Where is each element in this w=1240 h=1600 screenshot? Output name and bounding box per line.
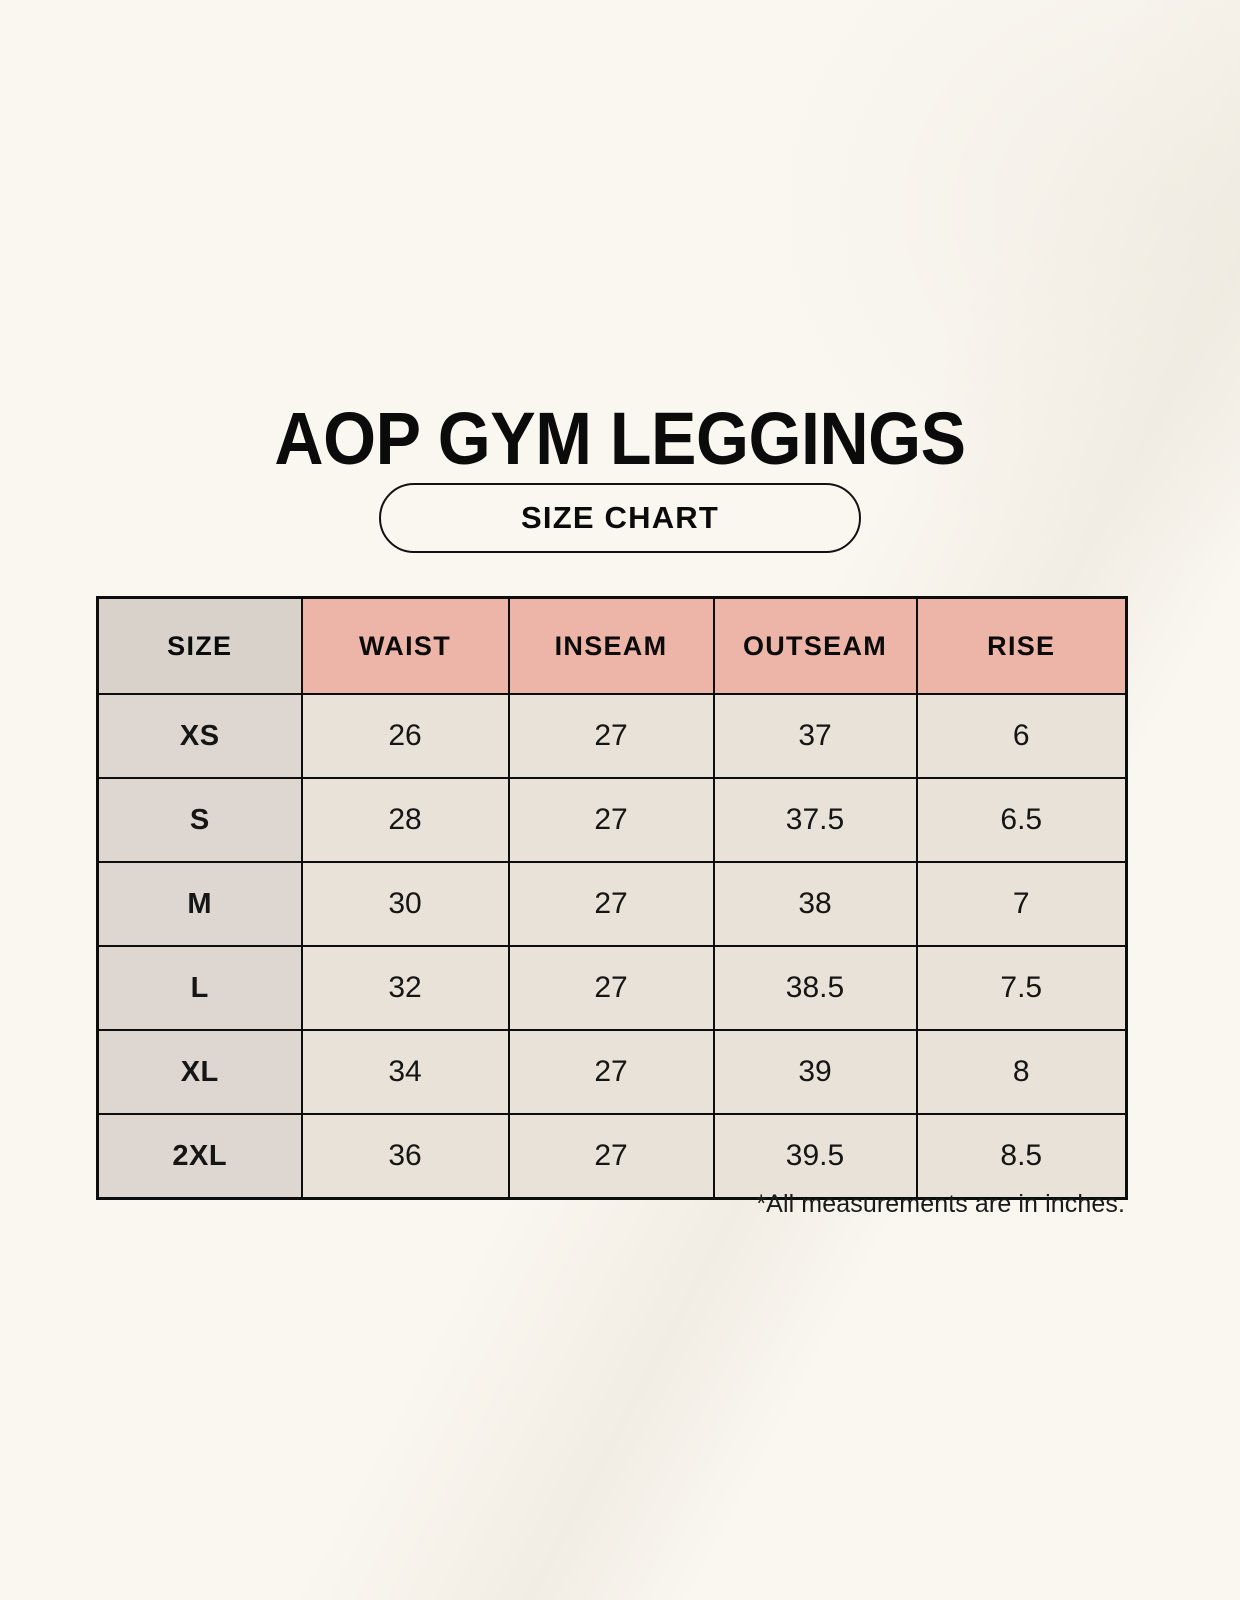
measurements-footnote: *All measurements are in inches. xyxy=(96,1190,1125,1219)
column-header-inseam: INSEAM xyxy=(509,598,714,695)
cell-inseam: 27 xyxy=(509,946,714,1030)
cell-size: S xyxy=(98,778,302,862)
cell-waist: 32 xyxy=(302,946,509,1030)
cell-waist: 28 xyxy=(302,778,509,862)
cell-waist: 34 xyxy=(302,1030,509,1114)
table-row: 2XL 36 27 39.5 8.5 xyxy=(98,1114,1127,1199)
page-title: AOP GYM LEGGINGS xyxy=(50,402,1191,476)
cell-rise: 7.5 xyxy=(917,946,1127,1030)
cell-inseam: 27 xyxy=(509,1030,714,1114)
size-table-container: SIZE WAIST INSEAM OUTSEAM RISE XS 26 27 … xyxy=(96,596,1125,1200)
table-header-row: SIZE WAIST INSEAM OUTSEAM RISE xyxy=(98,598,1127,695)
column-header-waist: WAIST xyxy=(302,598,509,695)
cell-rise: 6.5 xyxy=(917,778,1127,862)
cell-rise: 8.5 xyxy=(917,1114,1127,1199)
cell-inseam: 27 xyxy=(509,778,714,862)
cell-rise: 8 xyxy=(917,1030,1127,1114)
cell-inseam: 27 xyxy=(509,694,714,778)
cell-size: L xyxy=(98,946,302,1030)
table-row: XS 26 27 37 6 xyxy=(98,694,1127,778)
column-header-size: SIZE xyxy=(98,598,302,695)
cell-size: 2XL xyxy=(98,1114,302,1199)
cell-size: XS xyxy=(98,694,302,778)
cell-rise: 6 xyxy=(917,694,1127,778)
cell-inseam: 27 xyxy=(509,1114,714,1199)
table-row: XL 34 27 39 8 xyxy=(98,1030,1127,1114)
cell-waist: 36 xyxy=(302,1114,509,1199)
size-chart-badge: SIZE CHART xyxy=(379,483,861,553)
cell-outseam: 37 xyxy=(714,694,917,778)
table-row: L 32 27 38.5 7.5 xyxy=(98,946,1127,1030)
table-row: S 28 27 37.5 6.5 xyxy=(98,778,1127,862)
cell-outseam: 39 xyxy=(714,1030,917,1114)
badge-container: SIZE CHART xyxy=(0,483,1240,553)
column-header-outseam: OUTSEAM xyxy=(714,598,917,695)
table-header: SIZE WAIST INSEAM OUTSEAM RISE xyxy=(98,598,1127,695)
cell-outseam: 39.5 xyxy=(714,1114,917,1199)
cell-outseam: 38.5 xyxy=(714,946,917,1030)
cell-rise: 7 xyxy=(917,862,1127,946)
cell-outseam: 38 xyxy=(714,862,917,946)
table-row: M 30 27 38 7 xyxy=(98,862,1127,946)
cell-waist: 30 xyxy=(302,862,509,946)
cell-outseam: 37.5 xyxy=(714,778,917,862)
cell-size: M xyxy=(98,862,302,946)
cell-inseam: 27 xyxy=(509,862,714,946)
size-chart-page: AOP GYM LEGGINGS SIZE CHART SIZE WAIST I… xyxy=(0,0,1240,1600)
size-table: SIZE WAIST INSEAM OUTSEAM RISE XS 26 27 … xyxy=(96,596,1128,1200)
column-header-rise: RISE xyxy=(917,598,1127,695)
table-body: XS 26 27 37 6 S 28 27 37.5 6.5 M 30 27 xyxy=(98,694,1127,1199)
cell-size: XL xyxy=(98,1030,302,1114)
cell-waist: 26 xyxy=(302,694,509,778)
